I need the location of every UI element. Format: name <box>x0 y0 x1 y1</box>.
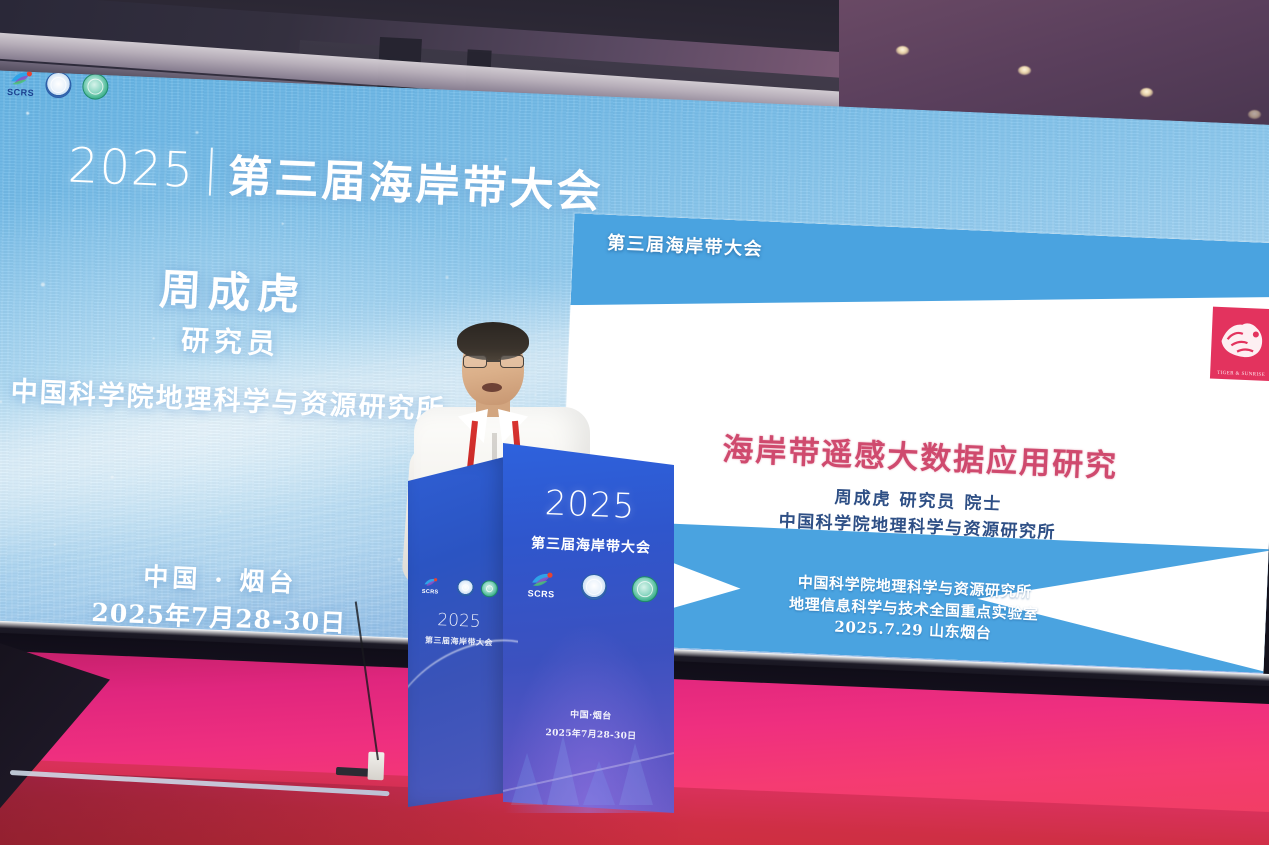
podium-logo-row: SCRS <box>527 570 658 603</box>
globe-seal-logo <box>631 576 658 603</box>
spotlight-2 <box>1018 66 1031 75</box>
scrs-mark-icon <box>422 577 439 589</box>
scrs-logo: SCRS <box>527 570 555 599</box>
scrs-label: SCRS <box>422 589 439 595</box>
spotlight-4 <box>1248 110 1261 119</box>
banner-year-badge: 2025 <box>67 138 195 199</box>
scrs-mark-icon <box>528 570 555 590</box>
podium-wave-graphic <box>408 623 518 813</box>
conference-stage-photo: SCRS 2025 第三届海岸带大会 周成虎 研究员 中国科学院地理科学与资源研… <box>0 0 1269 845</box>
tiger-icon <box>1215 311 1269 365</box>
scrs-logo: SCRS <box>422 577 439 595</box>
scrs-mark-icon <box>8 70 35 89</box>
tiger-sunrise-caption: TIGER & SUNRISE <box>1217 371 1265 378</box>
spotlight-1 <box>896 46 909 55</box>
podium: 2025 第三届海岸带大会 SCRS <box>408 443 674 813</box>
globe-seal-logo <box>481 579 499 597</box>
scrs-logo: SCRS <box>7 70 35 98</box>
speaker-mouth <box>482 383 502 392</box>
globe-seal-logo <box>82 73 109 100</box>
podium-side-year-badge: 2025 <box>424 610 495 633</box>
headline-divider <box>209 148 213 196</box>
institute-seal-logo <box>45 71 72 98</box>
podium-year-badge: 2025 <box>525 482 655 527</box>
institute-seal-logo <box>580 573 607 600</box>
tiger-sunrise-logo: TIGER & SUNRISE <box>1210 307 1269 382</box>
podium-side-logo-row: SCRS <box>421 571 498 602</box>
spotlight-3 <box>1140 88 1153 97</box>
scrs-label: SCRS <box>527 589 554 599</box>
scrs-label: SCRS <box>7 88 34 98</box>
speaker-glasses <box>463 355 524 368</box>
institute-seal-logo <box>456 578 474 596</box>
banner-logo-row: SCRS <box>7 70 109 101</box>
